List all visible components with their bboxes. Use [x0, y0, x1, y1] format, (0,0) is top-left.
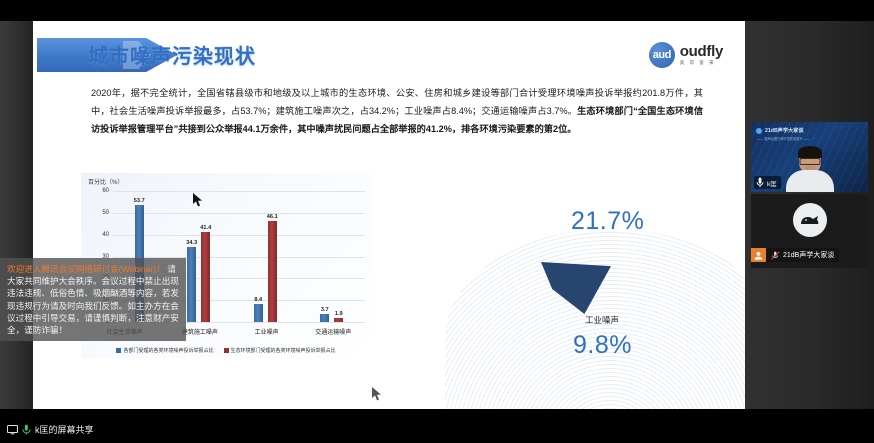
meeting-screen-share-window: 城市噪声污染现状 aud oudfly 奥 得 富 来 2020年，据不完全统计…: [0, 0, 874, 443]
logo-mark-icon: aud: [649, 42, 675, 68]
body-paragraph: 2020年，据不完全统计，全国省辖县级市和地级及以上城市的生态环境、公安、住房和…: [91, 85, 703, 139]
bar-construction-b: 41.4: [201, 232, 210, 322]
bar-industrial-b: 46.1: [268, 221, 277, 322]
bottom-status-bar: k匡的屏幕共享: [0, 409, 874, 443]
xtick-transport: 交通运输噪声: [315, 327, 351, 336]
video-tile-host[interactable]: 21dB声学大家谈: [751, 194, 868, 268]
bar-transport-b: 1.9: [334, 318, 343, 322]
mouse-cursor-icon: [372, 387, 382, 401]
participant-name-chip: k匡: [754, 176, 781, 189]
bar-transport-a: 3.7: [320, 314, 329, 322]
xtick-industrial: 工业噪声: [255, 327, 279, 336]
logo-word: oudfly: [680, 44, 723, 59]
brand-dot-icon: [756, 128, 762, 134]
wedge-label: 工业噪声: [585, 314, 619, 326]
ytick-60: 60: [102, 188, 109, 194]
bar-value-label: 53.7: [134, 198, 145, 204]
speaker-figure: [784, 148, 836, 192]
bar-value-label: 1.9: [335, 311, 343, 317]
bar-value-label: 8.4: [254, 297, 262, 303]
glasses-icon: [799, 158, 820, 165]
speaker-body: [786, 170, 834, 192]
video-subtitle-text: —— 噪声治理与声环境质量提升 ——: [757, 136, 810, 141]
bar-group-transport: 3.7 1.9: [320, 191, 343, 322]
speaker-hair: [798, 146, 822, 158]
ytick-50: 50: [102, 210, 109, 216]
toast-body: 请大家共同维护大会秩序。会议过程中禁止出现违法违规、低俗色情、吸烟酗酒等内容，若…: [7, 264, 179, 335]
left-gutter: [0, 21, 33, 409]
host-name-bar: 21dB声学大家谈: [751, 248, 839, 262]
bar-industrial-a: 8.4: [254, 304, 263, 322]
chart-axis-title: 百分比（%）: [88, 177, 123, 186]
share-label: k匡的屏幕共享: [35, 423, 94, 436]
bar-group-industrial: 8.4 46.1: [254, 191, 277, 322]
legend-label: 生态环境部门受理的各类环境噪声投诉举报占比: [231, 347, 336, 354]
top-black-strip: [0, 0, 874, 21]
screen-share-status: k匡的屏幕共享: [7, 423, 94, 436]
microphone-active-icon: [22, 424, 31, 435]
participant-sidebar[interactable]: 21dB声学大家谈 —— 噪声治理与声环境质量提升 —— k匡: [745, 21, 874, 409]
page-title: 城市噪声污染现状: [88, 40, 256, 69]
host-badge-icon: [751, 248, 766, 262]
legend-label: 各部门受理的各类环境噪声投诉举报占比: [123, 347, 213, 354]
shared-slide[interactable]: 城市噪声污染现状 aud oudfly 奥 得 富 来 2020年，据不完全统计…: [33, 21, 745, 409]
host-name: 21dB声学大家谈: [783, 250, 834, 260]
legend-item-series-2: 生态环境部门受理的各类环境噪声投诉举报占比: [224, 347, 336, 354]
logo-subtext: 奥 得 富 来: [680, 61, 723, 66]
legend-item-series-1: 各部门受理的各类环境噪声投诉举报占比: [116, 347, 213, 354]
microphone-icon: [756, 177, 764, 188]
toast-highlight-line: 欢迎进入腾讯会议网络研讨会(Webinar)！: [7, 264, 165, 274]
ytick-40: 40: [102, 232, 109, 238]
bar-value-label: 3.7: [321, 307, 329, 313]
xtick-construction: 建筑施工噪声: [182, 327, 218, 336]
cat-avatar-icon: [793, 203, 827, 237]
logo-wordmark: oudfly 奥 得 富 来: [680, 44, 723, 66]
video-tile-speaker[interactable]: 21dB声学大家谈 —— 噪声治理与声环境质量提升 —— k匡: [751, 122, 868, 192]
bottom-percent-value: 9.8%: [573, 331, 632, 360]
bar-value-label: 46.1: [267, 214, 278, 220]
video-title-text: 21dB声学大家谈: [765, 127, 804, 134]
bar-group-construction: 34.3 41.4: [187, 191, 210, 322]
chart-legend: 各部门受理的各类环境噪声投诉举报占比 生态环境部门受理的各类环境噪声投诉举报占比: [85, 347, 367, 354]
host-name-label-wrap: 21dB声学大家谈: [766, 248, 839, 262]
screen-share-icon: [7, 425, 18, 435]
bar-construction-a: 34.3: [187, 247, 196, 322]
legend-swatch-blue-icon: [116, 348, 121, 353]
bar-value-label: 34.3: [186, 240, 197, 246]
webinar-notice-toast: 欢迎进入腾讯会议网络研讨会(Webinar)！ 请大家共同维护大会秩序。会议过程…: [0, 258, 186, 341]
video-overlay-title: 21dB声学大家谈: [756, 127, 804, 134]
legend-swatch-red-icon: [224, 348, 229, 353]
top-percent-value: 21.7%: [571, 207, 644, 236]
bar-value-label: 41.4: [200, 225, 211, 231]
brand-logo: aud oudfly 奥 得 富 来: [649, 42, 723, 68]
microphone-muted-icon: [771, 251, 780, 260]
participant-name: k匡: [767, 178, 777, 188]
